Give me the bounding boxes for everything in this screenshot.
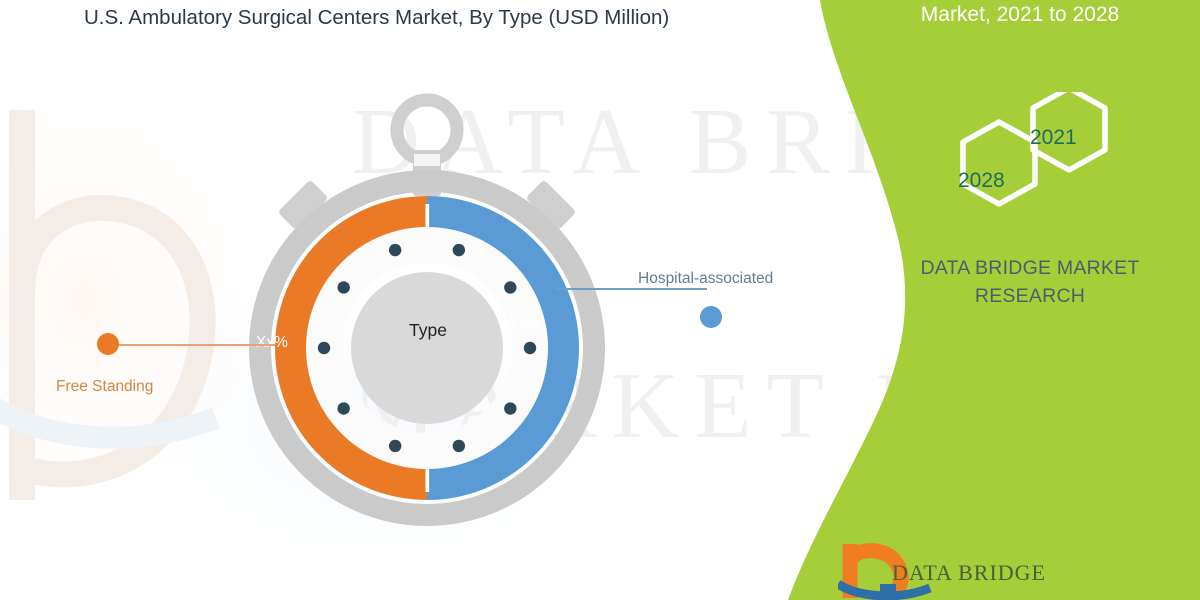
green-panel-title-line-2: Market, 2021 to 2028 (840, 1, 1200, 28)
hexagon-pair (925, 92, 1125, 232)
brand-line-2: RESEARCH (880, 283, 1180, 311)
data-label-free-standing: Xx% (256, 334, 288, 352)
donut-inner-disc (351, 272, 503, 424)
donut-chart (247, 92, 607, 532)
legend-label-hospital-associated: Hospital-associated (638, 270, 773, 288)
background-tint-left (0, 90, 260, 510)
infographic-canvas: DATA BRIDGE MARKET RESEARCH 2021 2028 U.… (0, 0, 1200, 600)
hexagon-label-2021: 2021 (1030, 126, 1077, 150)
data-label-hospital-associated: Xx% (509, 316, 541, 334)
b-bridge-logo-icon-watermark (0, 96, 256, 526)
leader-line-hospital-associated (555, 288, 707, 290)
legend-marker-free-standing (97, 333, 119, 355)
hexagon-label-2028: 2028 (958, 169, 1005, 193)
leader-line-free-standing (110, 344, 275, 346)
legend-label-free-standing: Free Standing (56, 378, 153, 396)
logo-text: DATA BRIDGE (892, 560, 1046, 586)
legend-marker-hospital-associated (700, 306, 722, 328)
green-panel-title: U.S. Ambulatory Surgical Centers Market,… (840, 0, 1200, 29)
brand-line-1: DATA BRIDGE MARKET (880, 255, 1180, 283)
page-title: U.S. Ambulatory Surgical Centers Market,… (84, 6, 669, 30)
green-panel-brand: DATA BRIDGE MARKET RESEARCH (880, 255, 1180, 310)
